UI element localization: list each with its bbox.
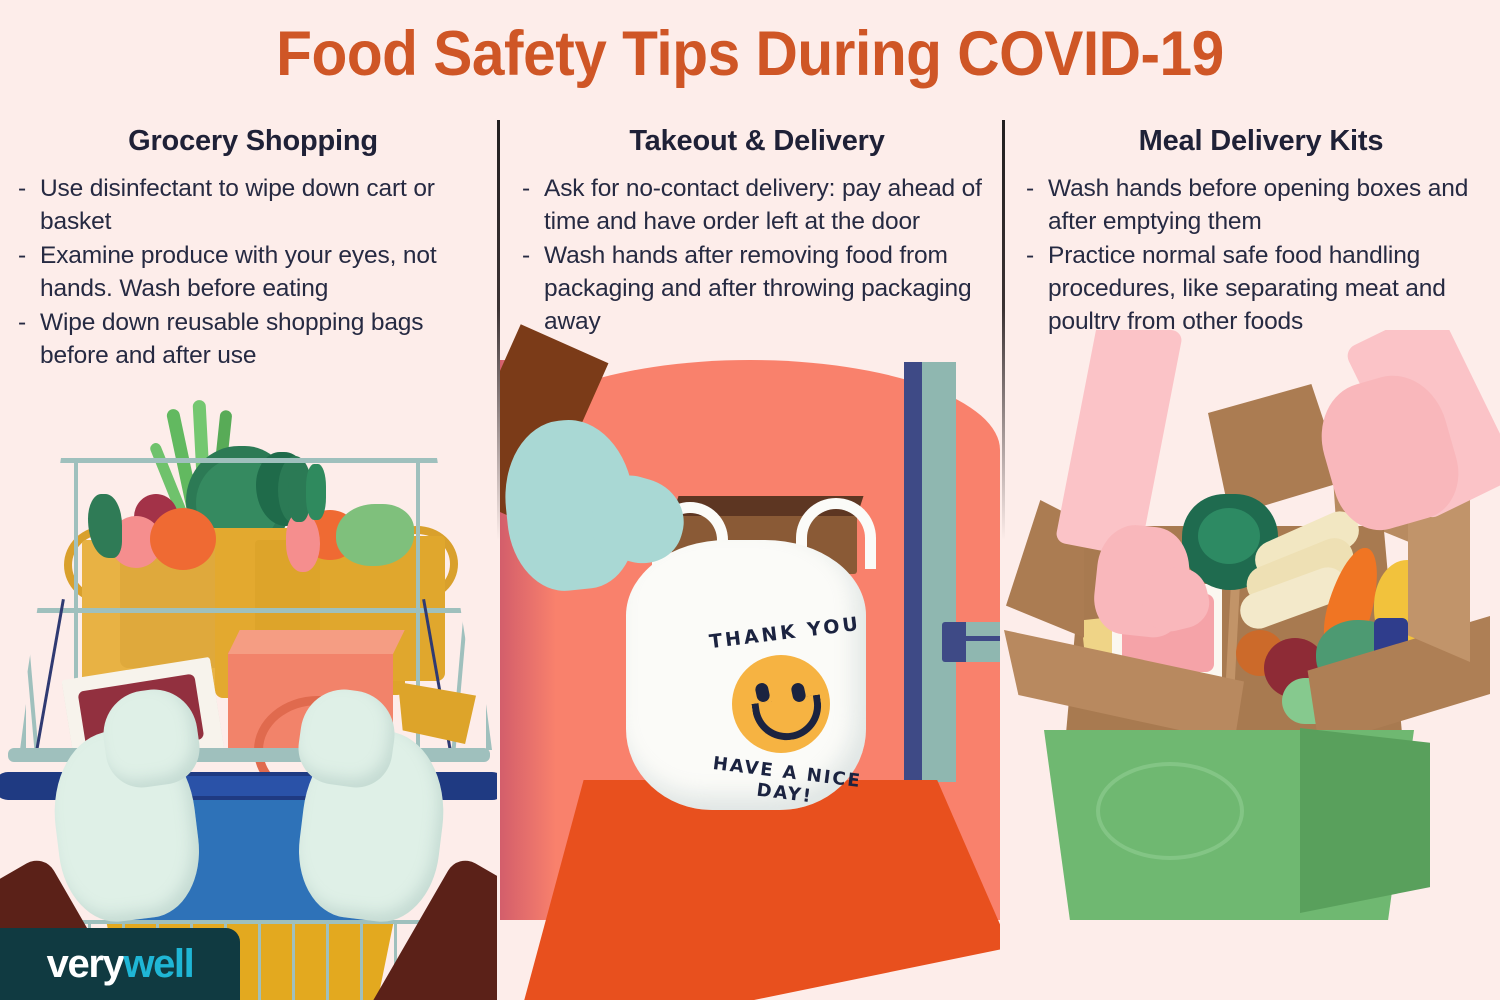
tip-item: -Use disinfectant to wipe down cart or b… xyxy=(18,172,488,238)
smiley-eye-left xyxy=(754,682,771,703)
tip-item: -Examine produce with your eyes, not han… xyxy=(18,239,488,305)
logo-text-well: well xyxy=(123,942,193,987)
box-brand-logo-icon xyxy=(1096,762,1244,860)
tip-text: Ask for no-contact delivery: pay ahead o… xyxy=(544,175,982,235)
infographic-canvas: Food Safety Tips During COVID-19 Grocery… xyxy=(0,0,1500,1000)
logo-text-very: very xyxy=(47,942,124,987)
tips-list-grocery: -Use disinfectant to wipe down cart or b… xyxy=(18,172,488,372)
bullet-dash-icon: - xyxy=(1026,239,1034,272)
tip-item: -Practice normal safe food handling proc… xyxy=(1026,239,1496,338)
tip-item: -Ask for no-contact delivery: pay ahead … xyxy=(522,172,992,238)
bullet-dash-icon: - xyxy=(18,172,26,205)
tip-text: Wipe down reusable shopping bags before … xyxy=(40,309,423,369)
illustration-meal-delivery-kit xyxy=(1000,330,1500,1000)
verywell-logo[interactable]: verywell xyxy=(0,928,240,1000)
tip-text: Practice normal safe food handling proce… xyxy=(1048,242,1446,335)
bullet-dash-icon: - xyxy=(1026,172,1034,205)
column-heading-takeout: Takeout & Delivery xyxy=(522,125,992,158)
bullet-dash-icon: - xyxy=(522,172,530,205)
column-heading-grocery: Grocery Shopping xyxy=(18,125,488,158)
tip-text: Wash hands before opening boxes and afte… xyxy=(1048,175,1468,235)
door-frame-shadow xyxy=(904,362,922,782)
smiley-face-icon xyxy=(732,655,830,753)
illustration-grocery-cart xyxy=(0,400,497,1000)
tips-list-meal-kits: -Wash hands before opening boxes and aft… xyxy=(1026,172,1496,338)
bullet-dash-icon: - xyxy=(18,306,26,339)
column-meal-delivery-kits: Meal Delivery Kits -Wash hands before op… xyxy=(1026,125,1496,339)
tip-item: -Wash hands before opening boxes and aft… xyxy=(1026,172,1496,238)
tip-item: -Wipe down reusable shopping bags before… xyxy=(18,306,488,372)
left-arm xyxy=(1055,330,1183,558)
tip-text: Use disinfectant to wipe down cart or ba… xyxy=(40,175,435,235)
column-grocery-shopping: Grocery Shopping -Use disinfectant to wi… xyxy=(18,125,488,373)
column-heading-meal-kits: Meal Delivery Kits xyxy=(1026,125,1496,158)
smiley-mouth xyxy=(751,694,825,744)
illustration-takeout-delivery: THANK YOU HAVE A NICE DAY! xyxy=(500,240,1000,1000)
page-title: Food Safety Tips During COVID-19 xyxy=(53,18,1448,90)
bullet-dash-icon: - xyxy=(18,239,26,272)
tip-text: Examine produce with your eyes, not hand… xyxy=(40,242,437,302)
box-front-side xyxy=(1300,728,1430,913)
door-push-bar-shadow xyxy=(942,622,966,662)
pepper-highlight xyxy=(1198,508,1260,564)
door-mat xyxy=(500,780,1000,1000)
door-push-bar-line xyxy=(966,636,1000,641)
